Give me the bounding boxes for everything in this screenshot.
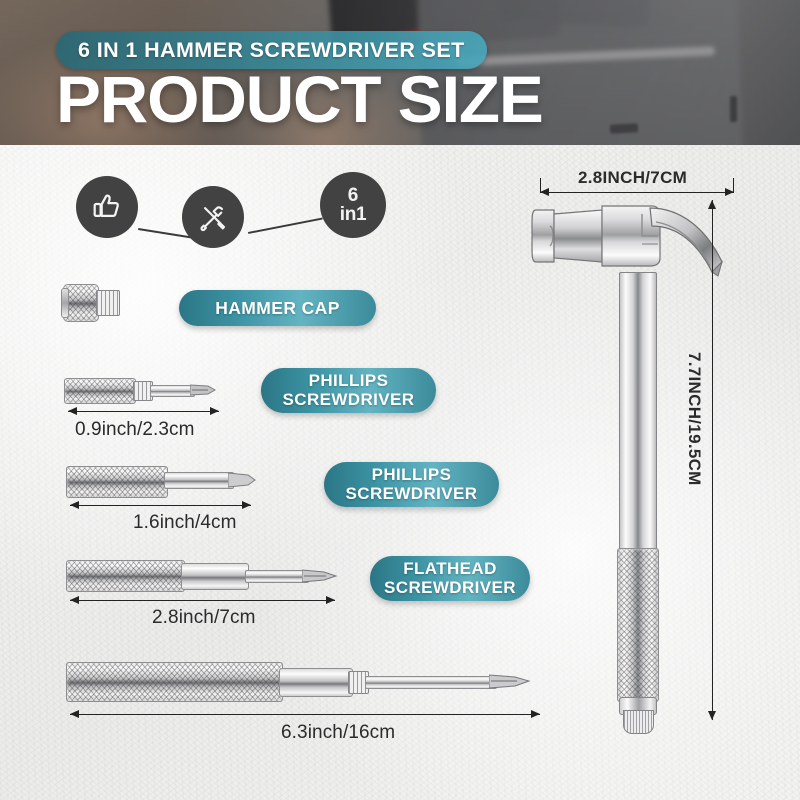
phillips-small-dimension-arrow bbox=[68, 411, 219, 412]
flathead-shaft bbox=[245, 570, 309, 583]
assembled-collar bbox=[279, 668, 353, 697]
assembled-dimension-label: 6.3inch/16cm bbox=[281, 722, 395, 744]
phillips-medium-dimension-label: 1.6inch/4cm bbox=[133, 512, 237, 534]
six-in-one-top-text: 6 bbox=[348, 187, 359, 205]
pill-hammer-cap-label: HAMMER CAP bbox=[215, 299, 340, 318]
product-size-infographic: 6 IN 1 HAMMER SCREWDRIVER SET PRODUCT SI… bbox=[0, 0, 800, 800]
phillips-medium-tip-icon bbox=[228, 470, 256, 490]
pill-flathead-line2: SCREWDRIVER bbox=[384, 579, 516, 597]
pill-phillips-small[interactable]: PHILLIPS SCREWDRIVER bbox=[261, 368, 436, 413]
hammer-height-arrow bbox=[712, 200, 713, 720]
hammer-width-label: 2.8INCH/7CM bbox=[578, 168, 687, 188]
hammer-handle-grip bbox=[617, 548, 659, 702]
flathead-dimension-arrow bbox=[70, 600, 335, 601]
badge-connector-2 bbox=[248, 218, 323, 234]
pill-phillips-small-line2: SCREWDRIVER bbox=[283, 391, 415, 409]
pill-flathead[interactable]: FLATHEAD SCREWDRIVER bbox=[370, 556, 530, 601]
hammer-width-arrow bbox=[540, 192, 734, 193]
phillips-small-dimension-label: 0.9inch/2.3cm bbox=[75, 419, 195, 441]
pill-flathead-line1: FLATHEAD bbox=[403, 560, 497, 578]
hammer-handle-shaft bbox=[619, 272, 657, 552]
hammer-screwdriver-crossed-icon bbox=[195, 199, 231, 235]
hammer-cap-end bbox=[61, 288, 69, 318]
pill-phillips-small-line1: PHILLIPS bbox=[309, 372, 389, 390]
assembled-flathead-tip-icon bbox=[489, 670, 531, 693]
thumbs-up-badge[interactable] bbox=[76, 176, 138, 238]
assembled-dimension-arrow bbox=[70, 714, 540, 715]
six-in-one-badge[interactable]: 6 in1 bbox=[320, 172, 386, 238]
flathead-collar bbox=[181, 563, 249, 590]
six-in-one-bottom-text: in1 bbox=[340, 205, 367, 224]
tools-badge[interactable] bbox=[182, 186, 244, 248]
hammer-end-cap bbox=[623, 710, 654, 734]
pill-hammer-cap[interactable]: HAMMER CAP bbox=[179, 290, 376, 326]
pill-phillips-medium-line2: SCREWDRIVER bbox=[346, 485, 478, 503]
phillips-medium-dimension-arrow bbox=[70, 505, 251, 506]
hammer-height-label: 7.7INCH/19.5CM bbox=[684, 352, 704, 486]
flathead-tip-icon bbox=[302, 566, 338, 586]
phillips-small-handle bbox=[64, 378, 136, 404]
pill-phillips-medium-line1: PHILLIPS bbox=[372, 466, 452, 484]
phillips-medium-shaft bbox=[164, 472, 234, 489]
flathead-handle bbox=[66, 560, 185, 592]
phillips-small-tip-icon bbox=[190, 381, 216, 399]
phillips-medium-handle bbox=[66, 466, 168, 498]
thumbs-up-icon bbox=[90, 190, 124, 224]
hammer-cap-threads bbox=[96, 290, 120, 316]
flathead-dimension-label: 2.8inch/7cm bbox=[152, 607, 256, 629]
pill-phillips-medium[interactable]: PHILLIPS SCREWDRIVER bbox=[324, 462, 499, 507]
assembled-handle bbox=[66, 662, 283, 702]
phillips-small-shaft bbox=[150, 385, 195, 397]
assembled-shaft bbox=[365, 676, 497, 689]
